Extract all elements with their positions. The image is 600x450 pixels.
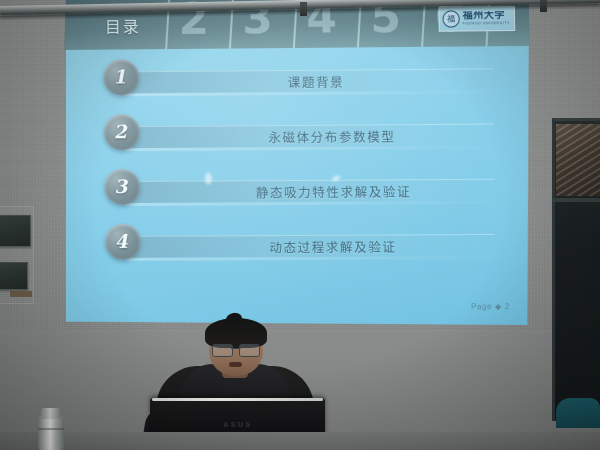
classroom-photo-scene: 2 3 4 5 6 目录 福 福州大学 FUZHOU UNIVERSITY 1 … [0,0,600,450]
university-name-en: FUZHOU UNIVERSITY [463,22,510,26]
wall-panel-lower [0,262,28,290]
door-mullion [552,198,600,202]
rail-bracket [300,2,307,16]
presenter-mouth [229,362,242,367]
agenda-badge-4: 4 [105,224,141,260]
chair-backrest [556,398,600,428]
agenda-label-1: 课题背景 [288,72,345,91]
rail-bracket [540,0,547,12]
wall-panel-upper [0,215,31,247]
agenda-item-3: 3 静态吸力特性求解及验证 [104,171,494,209]
agenda-number-4: 4 [116,231,129,253]
agenda-list: 1 课题背景 2 永磁体分布参数模型 3 静态吸力特性求解及验证 [59,46,532,327]
university-name-cn: 福州大学 [463,11,510,21]
slide-page-note: Page ◆ 2 [471,302,510,311]
thermos-flask [38,408,64,450]
agenda-badge-2: 2 [104,114,140,150]
university-seal-icon: 福 [443,10,460,27]
laptop-brand-label: ASUS [214,420,262,430]
agenda-label-4: 动态过程求解及验证 [269,236,396,256]
laptop-screen-edge [152,398,323,401]
agenda-number-3: 3 [116,176,129,198]
projector-glare-spot [205,173,212,185]
thermos-cap [41,408,61,419]
door-blind-icon [556,124,600,196]
university-logo-texts: 福州大学 FUZHOU UNIVERSITY [463,11,510,27]
agenda-badge-1: 1 [103,59,139,95]
agenda-number-2: 2 [115,121,128,143]
thermos-body [38,416,64,450]
thermos-ring [38,428,64,430]
glasses-icon [212,344,260,355]
agenda-badge-3: 3 [104,169,140,205]
agenda-label-2: 永磁体分布参数模型 [268,126,395,146]
agenda-item-1: 1 课题背景 [103,60,493,99]
agenda-item-4: 4 动态过程求解及验证 [105,226,495,264]
agenda-number-1: 1 [115,66,128,88]
desk-surface [0,432,600,450]
glasses-lens-right [239,344,260,357]
glasses-lens-left [212,344,233,357]
wall-panel-label [10,291,32,297]
agenda-item-2: 2 永磁体分布参数模型 [104,116,494,155]
projected-slide: 2 3 4 5 6 目录 福 福州大学 FUZHOU UNIVERSITY 1 … [59,0,532,327]
agenda-label-3: 静态吸力特性求解及验证 [256,181,411,201]
